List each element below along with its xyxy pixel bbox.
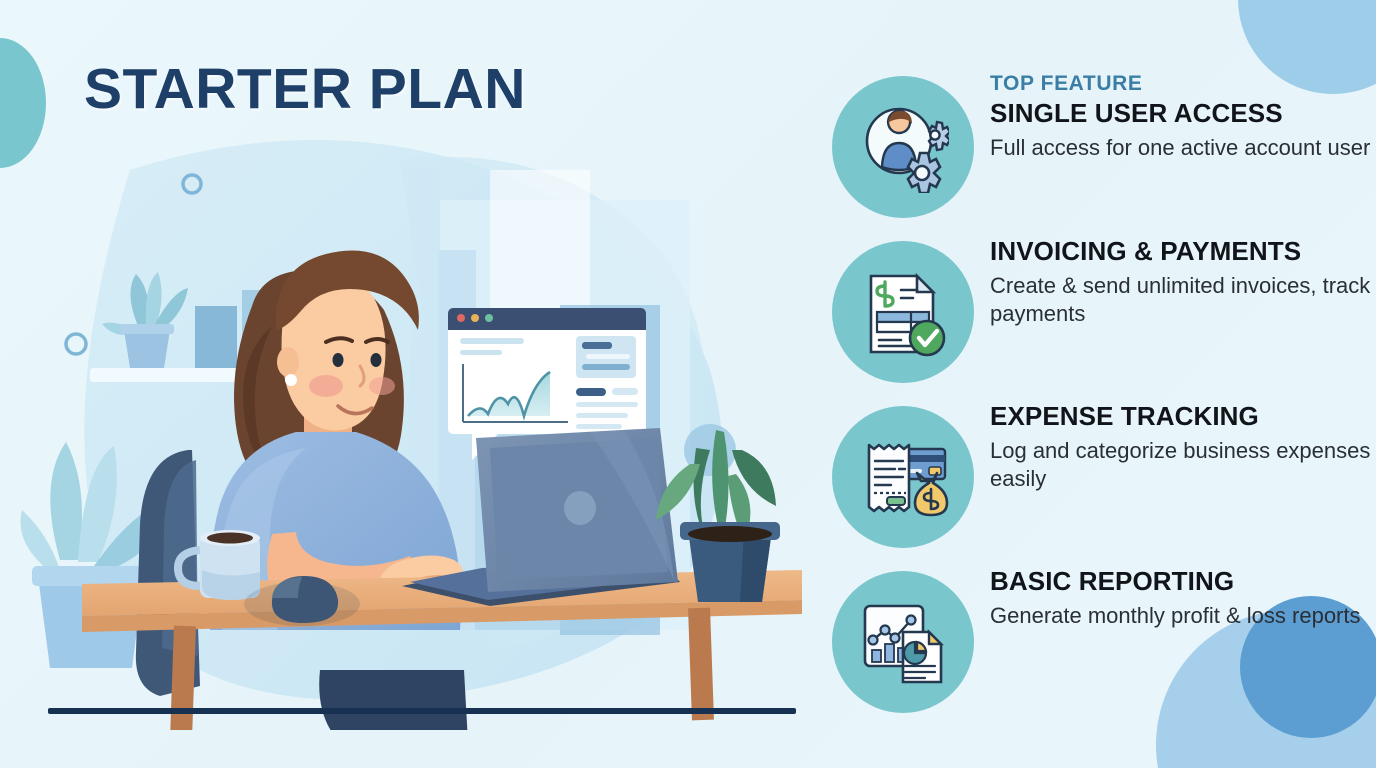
feature-item-invoicing-payments[interactable]: INVOICING & PAYMENTS Create & send unlim… (820, 237, 1376, 387)
receipt-card-moneybag-icon (832, 406, 974, 548)
feature-title: SINGLE USER ACCESS (990, 99, 1376, 129)
window-dot-yellow (471, 314, 479, 322)
feature-desc: Log and categorize business expenses eas… (990, 437, 1376, 494)
window-dot-red (457, 314, 465, 322)
charts-report-icon (832, 571, 974, 713)
poster-canvas: STARTER PLAN (0, 0, 1376, 768)
hero-illustration (20, 130, 830, 730)
feature-item-expense-tracking[interactable]: EXPENSE TRACKING Log and categorize busi… (820, 402, 1376, 552)
feature-title: EXPENSE TRACKING (990, 402, 1376, 432)
feature-text: EXPENSE TRACKING Log and categorize busi… (990, 402, 1376, 494)
feature-item-basic-reporting[interactable]: BASIC REPORTING Generate monthly profit … (820, 567, 1376, 717)
user-gear-icon (832, 76, 974, 218)
feature-desc: Generate monthly profit & loss reports (990, 602, 1376, 631)
feature-desc: Create & send unlimited invoices, track … (990, 272, 1376, 329)
invoice-check-icon (832, 241, 974, 383)
page-title: STARTER PLAN (84, 56, 526, 122)
feature-eyebrow: TOP FEATURE (990, 72, 1376, 96)
feature-title: INVOICING & PAYMENTS (990, 237, 1376, 267)
feature-text: INVOICING & PAYMENTS Create & send unlim… (990, 237, 1376, 329)
feature-text: BASIC REPORTING Generate monthly profit … (990, 567, 1376, 630)
feature-title: BASIC REPORTING (990, 567, 1376, 597)
window-dot-green (485, 314, 493, 322)
feature-desc: Full access for one active account user (990, 134, 1376, 163)
feature-item-single-user-access[interactable]: TOP FEATURE SINGLE USER ACCESS Full acce… (820, 72, 1376, 222)
feature-text: TOP FEATURE SINGLE USER ACCESS Full acce… (990, 72, 1376, 163)
decor-ring (66, 334, 86, 354)
floor-line (48, 708, 796, 714)
